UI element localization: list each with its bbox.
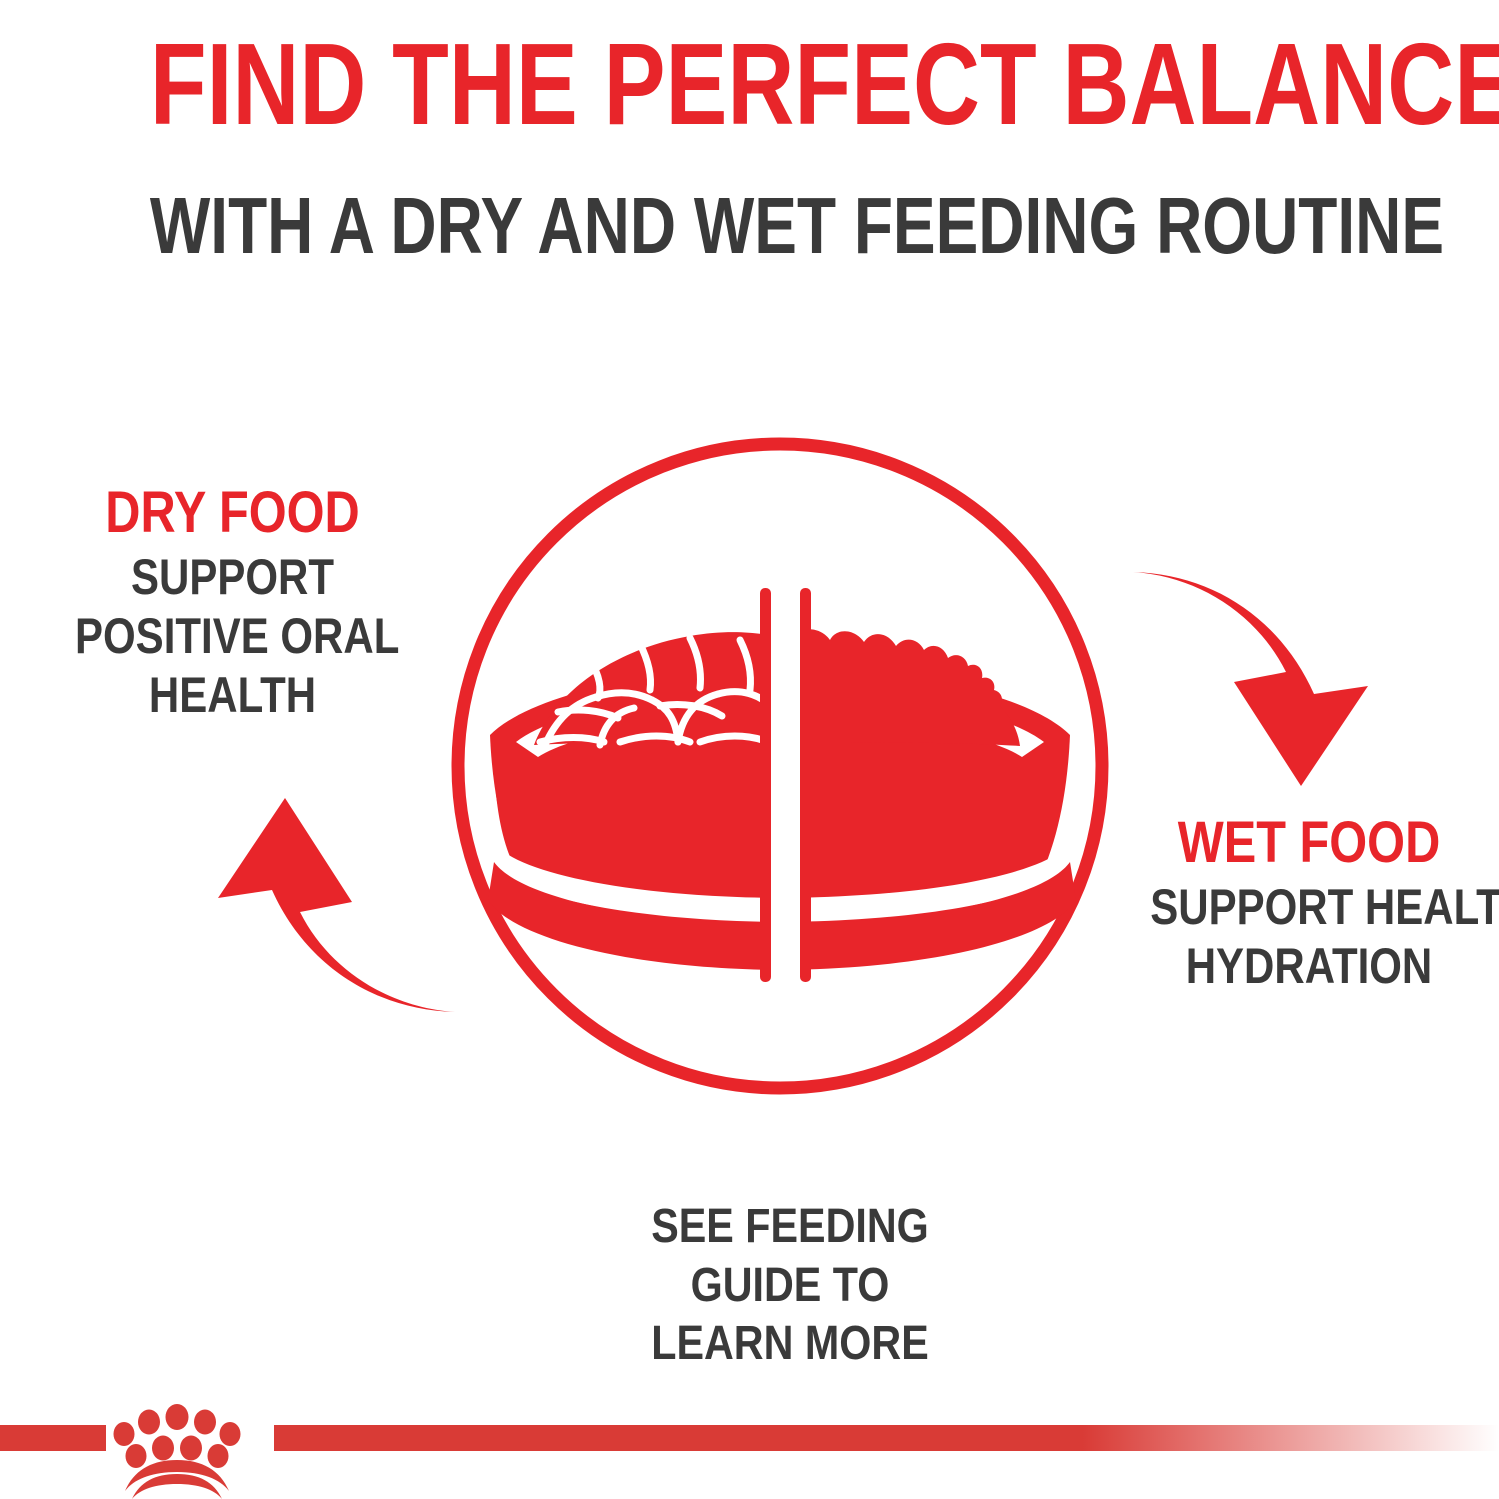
callout-wet-title: WET FOOD: [1150, 812, 1468, 875]
footer-bar-left: [0, 1425, 106, 1451]
circle-ring-icon: [458, 444, 1102, 1088]
caption-line-3: LEARN MORE: [609, 1315, 970, 1374]
bowl-left-dry: [488, 632, 790, 970]
divider-line-right: [800, 588, 811, 982]
footer-bar: [0, 1398, 1499, 1499]
bowl-right-wet: [770, 626, 1076, 970]
footer-bar-right: [274, 1425, 1499, 1451]
page-title: FIND THE PERFECT BALANCE: [150, 26, 1349, 142]
callout-wet-line-1: SUPPORT HEALTHY: [1150, 880, 1468, 934]
callout-dry-food: DRY FOOD SUPPORT POSITIVE ORAL HEALTH: [45, 482, 420, 722]
callout-dry-line-3: HEALTH: [75, 668, 390, 722]
divider-line-left: [760, 588, 771, 982]
callout-dry-line-2: POSITIVE ORAL: [75, 609, 390, 663]
feeding-guide-caption: SEE FEEDING GUIDE TO LEARN MORE: [580, 1198, 1000, 1374]
caption-line-2: GUIDE TO: [609, 1257, 970, 1316]
caption-line-1: SEE FEEDING: [609, 1198, 970, 1257]
callout-wet-food: WET FOOD SUPPORT HEALTHY HYDRATION: [1120, 812, 1498, 993]
callout-dry-title: DRY FOOD: [75, 482, 390, 545]
callout-dry-line-1: SUPPORT: [75, 550, 390, 604]
page-subtitle: WITH A DRY AND WET FEEDING ROUTINE: [150, 186, 1349, 266]
infographic-canvas: FIND THE PERFECT BALANCE WITH A DRY AND …: [0, 0, 1499, 1499]
arrow-left-up-icon: [218, 798, 455, 1012]
callout-wet-line-2: HYDRATION: [1150, 939, 1468, 993]
arrow-right-down-icon: [1133, 572, 1368, 786]
royal-canin-crown-icon: [104, 1398, 254, 1499]
